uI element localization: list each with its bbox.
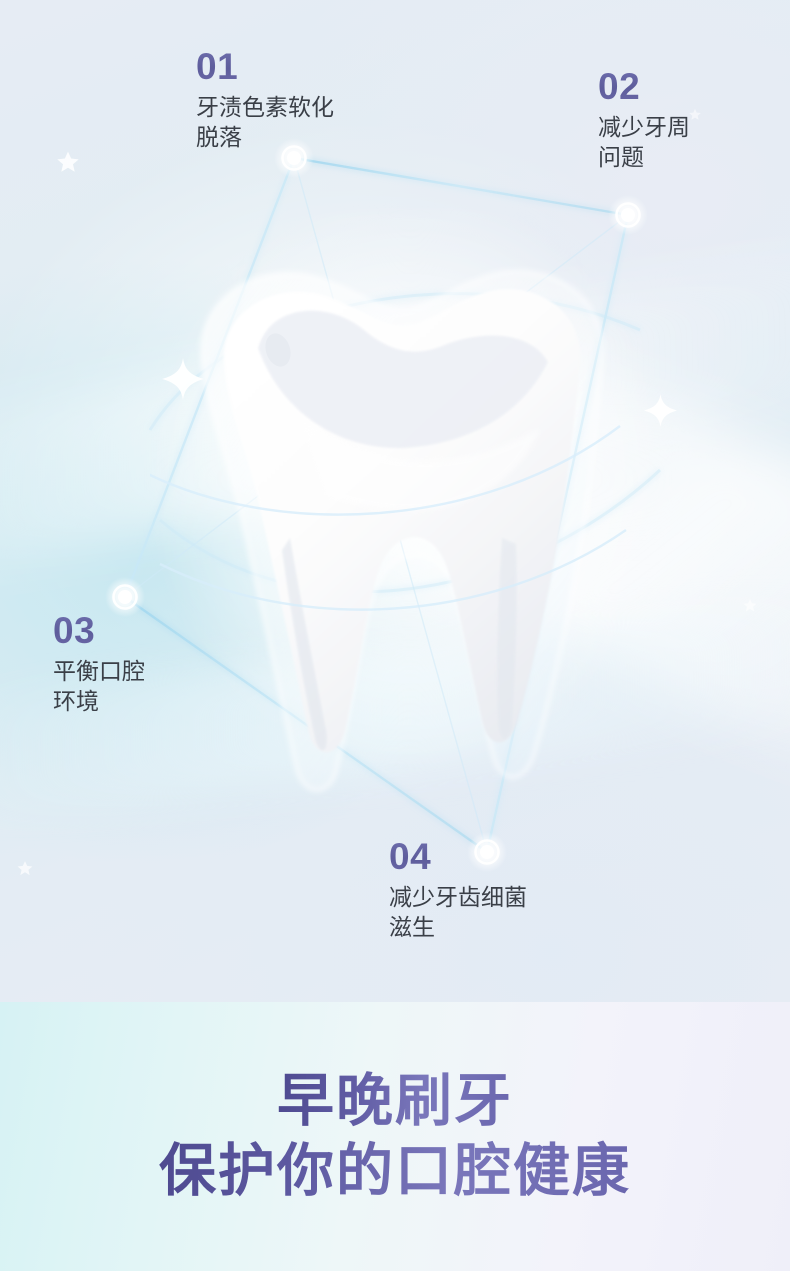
connector-line-01-02 [294,158,628,215]
benefit-text-01: 牙渍色素软化 脱落 [196,92,334,153]
tooth-illustration [150,238,650,818]
star-icon-top-left [55,150,81,176]
star-icon-bottom-left [16,860,34,878]
headline-line-1: 早晚刷牙 [277,1070,513,1134]
benefit-number-04: 04 [389,838,527,875]
benefit-label-04: 04 减少牙齿细菌 滋生 [389,838,527,943]
benefit-number-03: 03 [53,612,145,649]
benefit-label-01: 01 牙渍色素软化 脱落 [196,48,334,153]
footer-headline-band: 早晚刷牙 保护你的口腔健康 [0,1002,790,1271]
benefit-number-01: 01 [196,48,334,85]
node-03 [105,577,145,617]
benefit-label-02: 02 减少牙周 问题 [598,68,690,173]
star-icon-top-right [688,108,702,122]
benefit-number-02: 02 [598,68,690,105]
tooth-svg [150,238,650,818]
headline-line-2: 保护你的口腔健康 [159,1140,631,1204]
benefit-text-03: 平衡口腔 环境 [53,656,145,717]
benefit-label-03: 03 平衡口腔 环境 [53,612,145,717]
star-icon-right [742,598,758,614]
hero-section: 01 牙渍色素软化 脱落 02 减少牙周 问题 03 平衡口腔 环境 04 减少… [0,0,790,1002]
node-02 [608,195,648,235]
benefit-text-02: 减少牙周 问题 [598,112,690,173]
benefit-text-04: 减少牙齿细菌 滋生 [389,882,527,943]
poster-canvas: 01 牙渍色素软化 脱落 02 减少牙周 问题 03 平衡口腔 环境 04 减少… [0,0,790,1271]
